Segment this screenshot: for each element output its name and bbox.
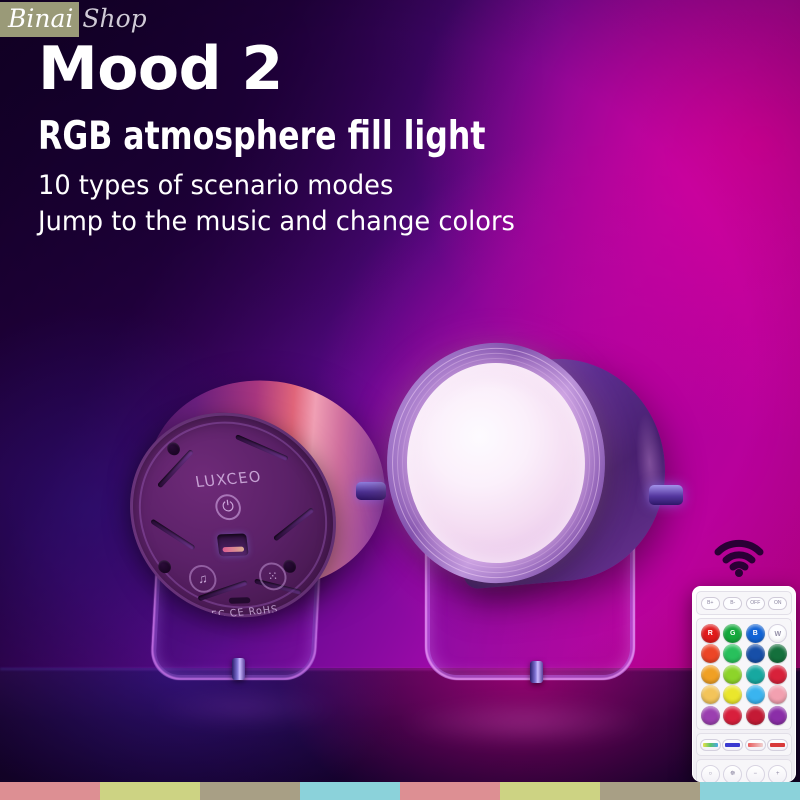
arrow-icon [770,743,785,747]
wifi-icon [710,532,768,578]
swatch-7 [600,782,700,800]
color-orange-red[interactable] [701,644,720,663]
usb-c-port [217,533,249,556]
plus-button[interactable]: + [768,765,787,783]
color-navy[interactable] [746,644,765,663]
color-teal[interactable] [746,665,765,684]
remote-function-row: ○☸−+ [699,765,789,783]
color-yellow[interactable] [723,685,742,704]
color-purple[interactable] [701,706,720,725]
remote-color-panel: RGBW [696,618,792,730]
color-rose[interactable] [723,706,742,725]
swatch-1 [0,782,100,800]
color-red[interactable]: R [701,624,720,643]
brightness-down-button[interactable]: B- [723,597,742,610]
swatch-4 [300,782,400,800]
cycle-button[interactable]: ○ [701,765,720,783]
swatch-8 [700,782,800,800]
color-amber[interactable] [701,665,720,684]
remote-color-row [699,685,789,704]
remote-color-row: RGBW [699,624,789,643]
color-emerald[interactable] [723,644,742,663]
flash-mode-button[interactable] [767,739,788,751]
lamp-front-tilt-knob [649,485,683,505]
panel-slot [229,597,251,604]
remote-color-row [699,706,789,725]
remote-control[interactable]: B+B-OFFON RGBW ○☸−+☰▤▦SOSℹ☢❄♫ LUXCEO 光影学… [692,586,796,782]
swatch-3 [200,782,300,800]
product-hero-image: Binai Shop Mood 2 RGB atmosphere fill li… [0,0,800,800]
smooth-mode-button[interactable] [745,739,766,751]
scene-button[interactable]: ☸ [723,765,742,783]
color-lime[interactable] [723,665,742,684]
remote-function-grid: ○☸−+☰▤▦SOSℹ☢❄♫ [699,765,789,783]
product-lamp-front-view [385,335,685,705]
remote-power-row: B+B-OFFON [699,597,789,610]
remote-color-row [699,665,789,684]
watermark-binaishop: Binai Shop [0,0,147,38]
arrow-icon [748,743,763,747]
jump-mode-button[interactable] [722,739,743,751]
swatch-2 [100,782,200,800]
brightness-up-button[interactable]: B+ [701,597,720,610]
swatch-6 [500,782,600,800]
remote-color-row [699,644,789,663]
feature-bullet-2: Jump to the music and change colors [38,204,515,240]
color-violet[interactable] [768,706,787,725]
lamp-rear-foot [232,658,245,680]
lamp-front-reflection [400,700,650,744]
color-white[interactable]: W [768,624,787,643]
feature-bullet-1: 10 types of scenario modes [38,168,515,204]
minus-button[interactable]: − [746,765,765,783]
headline-block: Mood 2 RGB atmosphere fill light 10 type… [38,38,540,240]
page-subtitle: RGB atmosphere fill light [38,114,490,160]
swatch-5 [400,782,500,800]
power-off-button[interactable]: OFF [746,597,765,610]
color-dark-green[interactable] [768,644,787,663]
watermark-part-2: Shop [79,4,146,34]
page-title: Mood 2 [38,38,540,100]
watermark-part-1: Binai [0,2,79,37]
lamp-front-foot [530,661,543,683]
color-gold[interactable] [701,685,720,704]
product-lamp-rear-view: LUXCEO ⏻ ♫ ⁙ FC CE RoHS INPUT: DC 5V 2A … [120,370,390,700]
color-crimson[interactable] [768,665,787,684]
arrow-icon [703,743,718,747]
color-swatch-strip [0,782,800,800]
remote-mode-panel [696,733,792,756]
color-blue[interactable]: B [746,624,765,643]
color-sky[interactable] [746,685,765,704]
color-green[interactable]: G [723,624,742,643]
fade-mode-button[interactable] [700,739,721,751]
color-red-deep[interactable] [746,706,765,725]
arrow-icon [725,743,740,747]
color-pink[interactable] [768,685,787,704]
remote-color-grid: RGBW [699,624,789,725]
remote-mode-row [699,739,789,751]
power-on-button[interactable]: ON [768,597,787,610]
remote-function-panel: ○☸−+☰▤▦SOSℹ☢❄♫ [696,759,792,782]
remote-top-panel: B+B-OFFON [696,591,792,615]
